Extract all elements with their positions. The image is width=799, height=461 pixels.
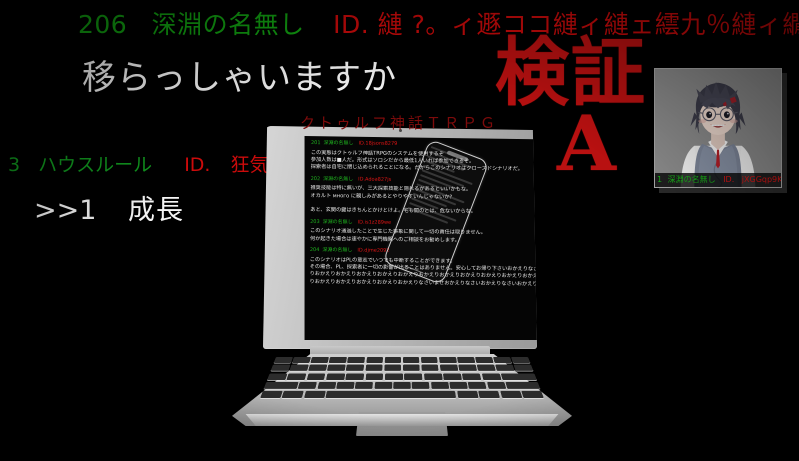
- keyboard-key: [326, 373, 345, 380]
- keyboard-row: [267, 373, 536, 380]
- reply-anchor: >>1: [34, 195, 96, 226]
- portrait-caption-name: 深淵の名無し: [668, 175, 716, 184]
- keyboard-key: [403, 365, 420, 371]
- bbs-post-number: 201: [311, 140, 321, 146]
- keyboard-key: [514, 365, 533, 371]
- keyboard-key: [440, 365, 458, 371]
- main-message-text: 移らっしゃいますか: [82, 56, 397, 100]
- scene-root: 206 深淵の名無し ID. 縺 ?。ィ遯ココ縺ィ縺ェ繧九％縺ィ繝 移らっしゃい…: [0, 0, 799, 461]
- keyboard-key: [260, 391, 282, 398]
- trpg-subtitle: クトゥルフ神話ＴＲＰＧ: [300, 112, 498, 133]
- portrait-frame: 1 深淵の名無し ID. jXGGqp9KTz6r8: [654, 68, 782, 188]
- keyboard-key: [384, 365, 401, 371]
- keyboard-key: [421, 365, 439, 371]
- keyboard-key: [500, 391, 522, 398]
- keyboard-key: [487, 382, 506, 389]
- keyboard-key: [307, 373, 326, 380]
- thread-header-line: 206 深淵の名無し ID. 縺 ?。ィ遯ココ縺ィ縺ェ繧九％縺ィ繝: [78, 9, 799, 41]
- keyboard-key: [329, 357, 347, 363]
- keyboard-key: [298, 382, 317, 389]
- houserule-number: 3: [8, 154, 20, 176]
- keyboard-key: [282, 391, 304, 398]
- keyboard-key: [421, 357, 438, 363]
- keyboard-key: [424, 373, 442, 380]
- keyboard-key: [311, 357, 329, 363]
- laptop-base-lip: [232, 414, 572, 426]
- keyboard-key: [457, 391, 478, 398]
- keyboard-key: [405, 373, 423, 380]
- keyboard-key: [431, 382, 449, 389]
- keyboard-key: [289, 365, 308, 371]
- keyboard-key: [449, 382, 467, 389]
- keyboard-key: [501, 373, 537, 380]
- bbs-post-name: 深淵の名無し: [323, 176, 353, 182]
- houserule-header-line: 3 ハウスルール ID. 狂気: [8, 152, 269, 178]
- keyboard-key: [271, 365, 290, 371]
- keyboard-key: [365, 373, 383, 380]
- keyboard-key: [374, 382, 391, 389]
- portrait-caption: 1 深淵の名無し ID. jXGGqp9KTz6r8: [655, 173, 782, 187]
- keyboard-key: [384, 357, 401, 363]
- keyboard-key: [336, 382, 354, 389]
- keyboard-key: [462, 373, 481, 380]
- reply-anchor-word: 成長: [128, 195, 184, 226]
- keyboard-key: [403, 357, 420, 363]
- keyboard-key: [511, 357, 530, 363]
- keyboard-key: [468, 382, 487, 389]
- keyboard-key: [478, 391, 500, 398]
- laptop-keyboard: [260, 357, 544, 398]
- keyboard-key: [292, 357, 310, 363]
- scene-title: 検証 A: [495, 40, 647, 180]
- bbs-post-id: ID.18jsons8279: [358, 140, 397, 146]
- keyboard-key: [493, 357, 511, 363]
- keyboard-key: [482, 373, 501, 380]
- keyboard-key: [267, 373, 287, 380]
- bbs-post-name: 深淵の名無し: [323, 140, 353, 146]
- bbs-post-name: 深淵の名無し: [322, 247, 352, 253]
- keyboard-key: [521, 391, 543, 398]
- bbs-post-number: 203: [310, 219, 320, 225]
- scene-title-suffix: A: [557, 108, 647, 180]
- keyboard-key: [326, 391, 457, 398]
- keyboard-key: [274, 357, 293, 363]
- houserule-id-label: ID.: [184, 154, 210, 176]
- keyboard-key: [264, 382, 299, 389]
- keyboard-key: [346, 373, 365, 380]
- keyboard-key: [317, 382, 336, 389]
- houserule-name: ハウスルール: [38, 154, 152, 176]
- keyboard-key: [385, 373, 403, 380]
- thread-id-label: ID.: [333, 10, 369, 39]
- portrait-caption-id-label: ID.: [723, 175, 734, 184]
- keyboard-key: [365, 365, 383, 371]
- bbs-post-number: 204: [310, 247, 320, 253]
- keyboard-key: [366, 357, 383, 363]
- thread-poster-name: 深淵の名無し: [152, 10, 305, 39]
- bbs-post-number: 202: [311, 176, 321, 182]
- character-artwork: [655, 69, 781, 187]
- keyboard-key: [304, 391, 326, 398]
- keyboard-key: [496, 365, 515, 371]
- keyboard-key: [346, 365, 364, 371]
- keyboard-row: [274, 357, 531, 363]
- keyboard-row: [264, 382, 540, 389]
- thread-number: 206: [78, 10, 127, 39]
- keyboard-key: [347, 357, 364, 363]
- keyboard-row: [271, 365, 534, 371]
- bbs-post-id: ID.is1z289we: [358, 219, 391, 225]
- keyboard-row: [260, 391, 544, 398]
- keyboard-key: [443, 373, 462, 380]
- keyboard-key: [412, 382, 429, 389]
- keyboard-key: [475, 357, 493, 363]
- reply-anchor-line: >>1 成長: [34, 193, 184, 229]
- keyboard-key: [457, 357, 475, 363]
- portrait-caption-number: 1: [657, 175, 662, 184]
- bbs-post-id: ID.Adoa827js: [358, 176, 391, 182]
- bbs-post-name: 深淵の名無し: [323, 219, 353, 225]
- keyboard-key: [308, 365, 327, 371]
- keyboard-key: [439, 357, 456, 363]
- portrait-caption-id-value: jXGGqp9KTz6r8: [742, 175, 782, 184]
- character-portrait-card: 1 深淵の名無し ID. jXGGqp9KTz6r8: [654, 68, 787, 193]
- keyboard-key: [505, 382, 540, 389]
- keyboard-key: [458, 365, 476, 371]
- keyboard-key: [287, 373, 307, 380]
- keyboard-key: [355, 382, 373, 389]
- keyboard-key: [477, 365, 496, 371]
- keyboard-key: [327, 365, 345, 371]
- keyboard-key: [393, 382, 410, 389]
